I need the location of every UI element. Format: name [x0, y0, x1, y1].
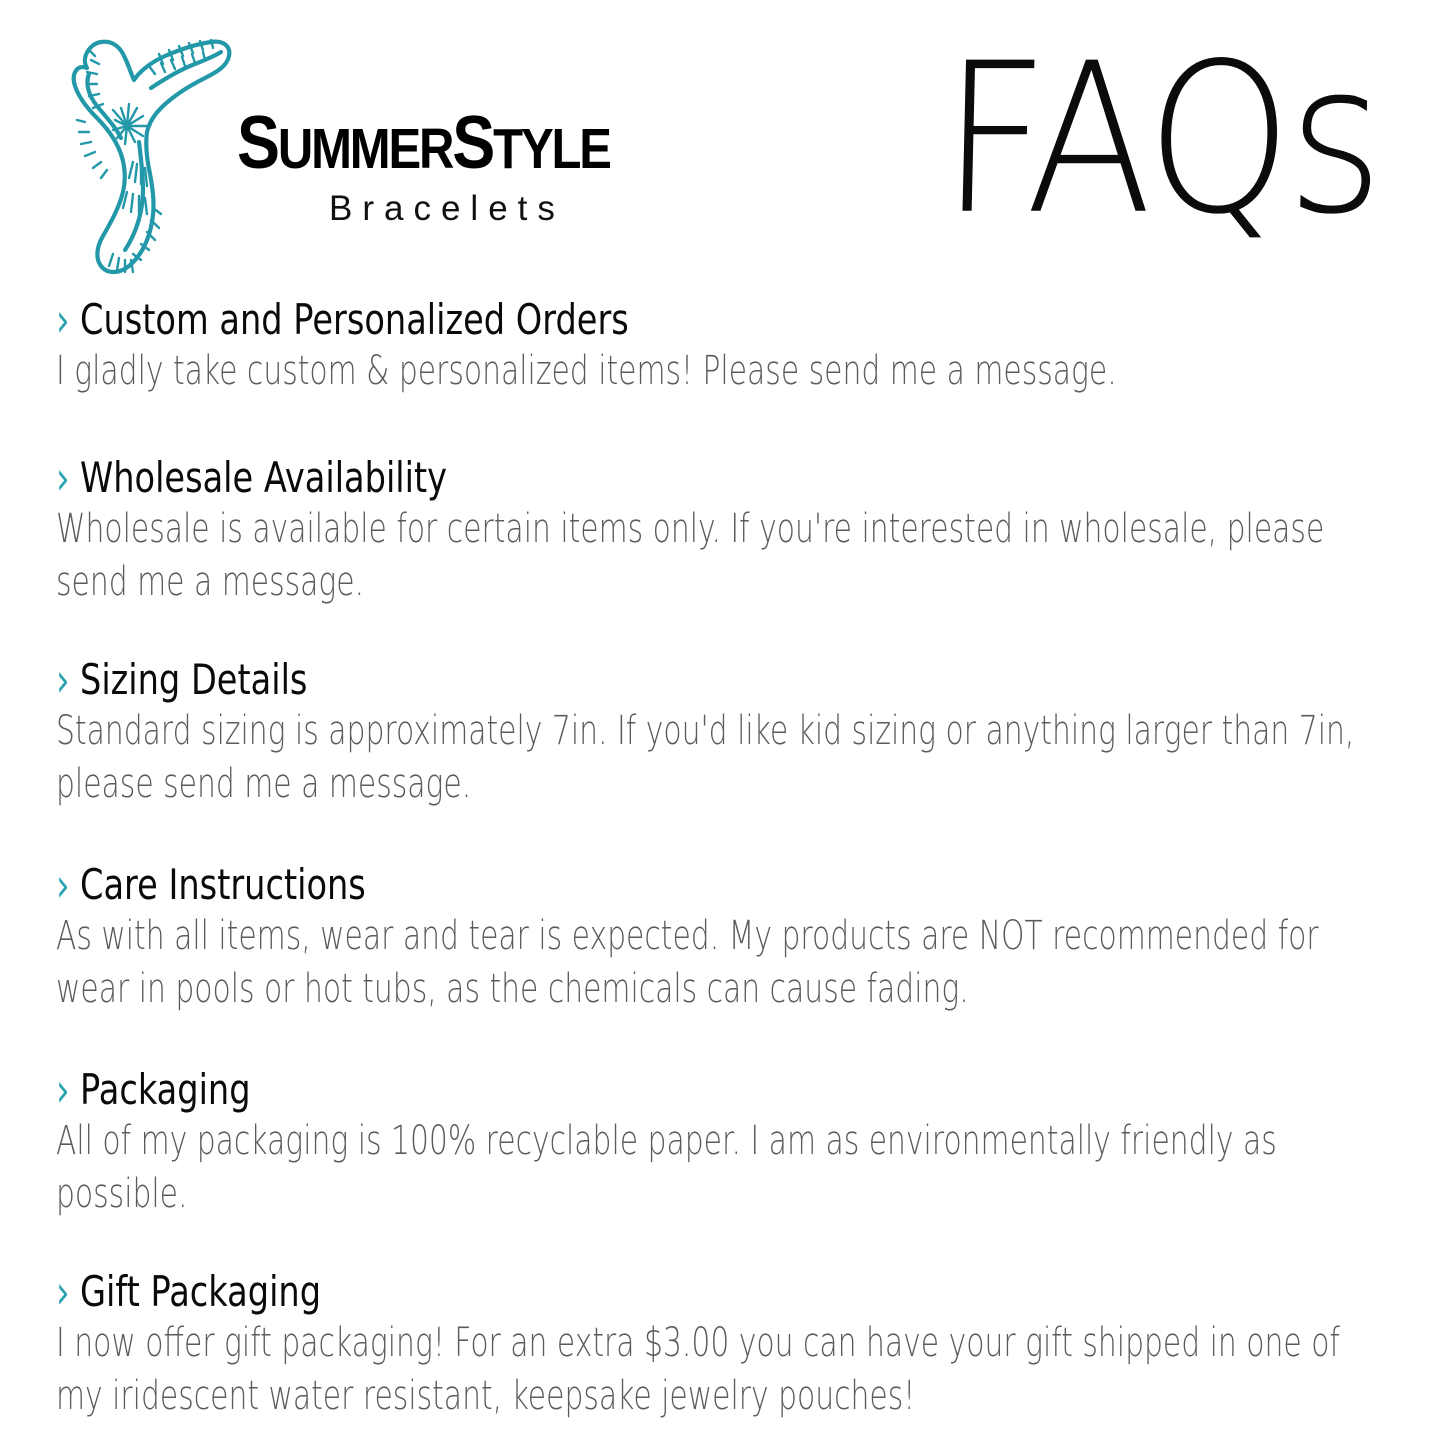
brand-name: SUMMERSTYLE	[237, 110, 598, 175]
faq-question-text: Care Instructions	[80, 861, 366, 908]
faq-page: SUMMERSTYLE Bracelets FAQs › Custom and …	[0, 0, 1445, 1445]
brand-logo: SUMMERSTYLE Bracelets	[55, 22, 655, 287]
faq-question[interactable]: › Care Instructions	[56, 861, 1396, 908]
faq-item-wholesale: › Wholesale Availability Wholesale is av…	[56, 454, 1396, 609]
faq-answer-text: I now offer gift packaging! For an extra…	[56, 1317, 1390, 1423]
faq-answer-text: Wholesale is available for certain items…	[56, 503, 1390, 609]
faq-question-text: Gift Packaging	[80, 1268, 321, 1315]
faq-question[interactable]: › Wholesale Availability	[56, 454, 1396, 501]
faq-item-gift-packaging: › Gift Packaging I now offer gift packag…	[56, 1268, 1396, 1423]
faq-item-care: › Care Instructions As with all items, w…	[56, 861, 1396, 1016]
faq-question[interactable]: › Gift Packaging	[56, 1268, 1396, 1315]
faq-answer-text: Standard sizing is approximately 7in. If…	[56, 705, 1390, 811]
page-header: SUMMERSTYLE Bracelets FAQs	[0, 0, 1445, 290]
chevron-right-icon: ›	[56, 863, 70, 909]
faq-item-custom-orders: › Custom and Personalized Orders I gladl…	[56, 296, 1396, 398]
faq-question-text: Packaging	[80, 1066, 251, 1113]
faq-item-sizing: › Sizing Details Standard sizing is appr…	[56, 656, 1396, 811]
faq-answer-text: As with all items, wear and tear is expe…	[56, 910, 1390, 1016]
chevron-right-icon: ›	[56, 658, 70, 704]
chevron-right-icon: ›	[56, 456, 70, 502]
faq-question[interactable]: › Sizing Details	[56, 656, 1396, 703]
faq-answer-text: All of my packaging is 100% recyclable p…	[56, 1115, 1390, 1221]
faq-answer-text: I gladly take custom & personalized item…	[56, 345, 1390, 398]
faq-question[interactable]: › Packaging	[56, 1066, 1396, 1113]
faq-question[interactable]: › Custom and Personalized Orders	[56, 296, 1396, 343]
faq-list: › Custom and Personalized Orders I gladl…	[56, 296, 1396, 1423]
chevron-right-icon: ›	[56, 298, 70, 344]
faq-item-packaging: › Packaging All of my packaging is 100% …	[56, 1066, 1396, 1221]
faq-question-text: Custom and Personalized Orders	[80, 296, 629, 343]
starfish-icon	[55, 22, 240, 287]
chevron-right-icon: ›	[56, 1068, 70, 1114]
brand-wordmark: SUMMERSTYLE Bracelets	[237, 110, 657, 240]
faq-question-text: Sizing Details	[80, 656, 307, 703]
chevron-right-icon: ›	[56, 1270, 70, 1316]
brand-subtitle: Bracelets	[329, 189, 657, 229]
page-title: FAQs	[939, 36, 1383, 243]
faq-question-text: Wholesale Availability	[80, 454, 447, 501]
